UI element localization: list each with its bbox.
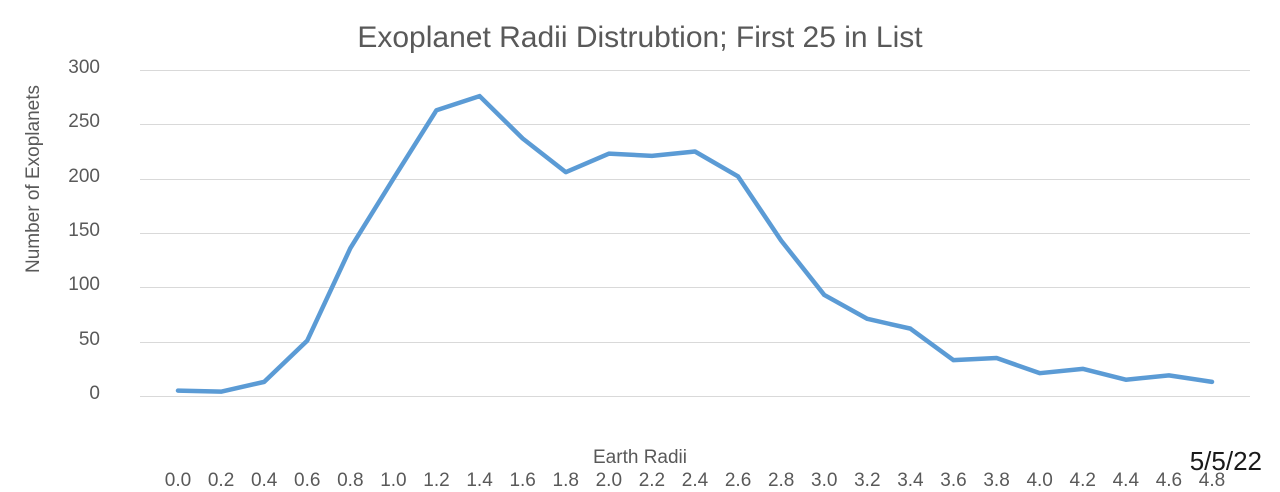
chart-container: Exoplanet Radii Distrubtion; First 25 in… — [0, 0, 1280, 491]
y-axis-tick-label: 0 — [0, 383, 100, 405]
y-axis-tick-label: 100 — [0, 274, 100, 296]
y-axis-tick-label: 200 — [0, 166, 100, 188]
date-stamp: 5/5/22 — [1190, 446, 1262, 477]
series-polyline — [178, 96, 1212, 392]
x-axis-title: Earth Radii — [0, 447, 1280, 469]
y-axis-tick-label: 50 — [0, 329, 100, 351]
gridline — [140, 396, 1250, 397]
y-axis-tick-label: 300 — [0, 57, 100, 79]
y-axis-tick-label: 250 — [0, 111, 100, 133]
data-series-line — [140, 70, 1250, 396]
y-axis-tick-label: 150 — [0, 220, 100, 242]
chart-title: Exoplanet Radii Distrubtion; First 25 in… — [0, 21, 1280, 55]
